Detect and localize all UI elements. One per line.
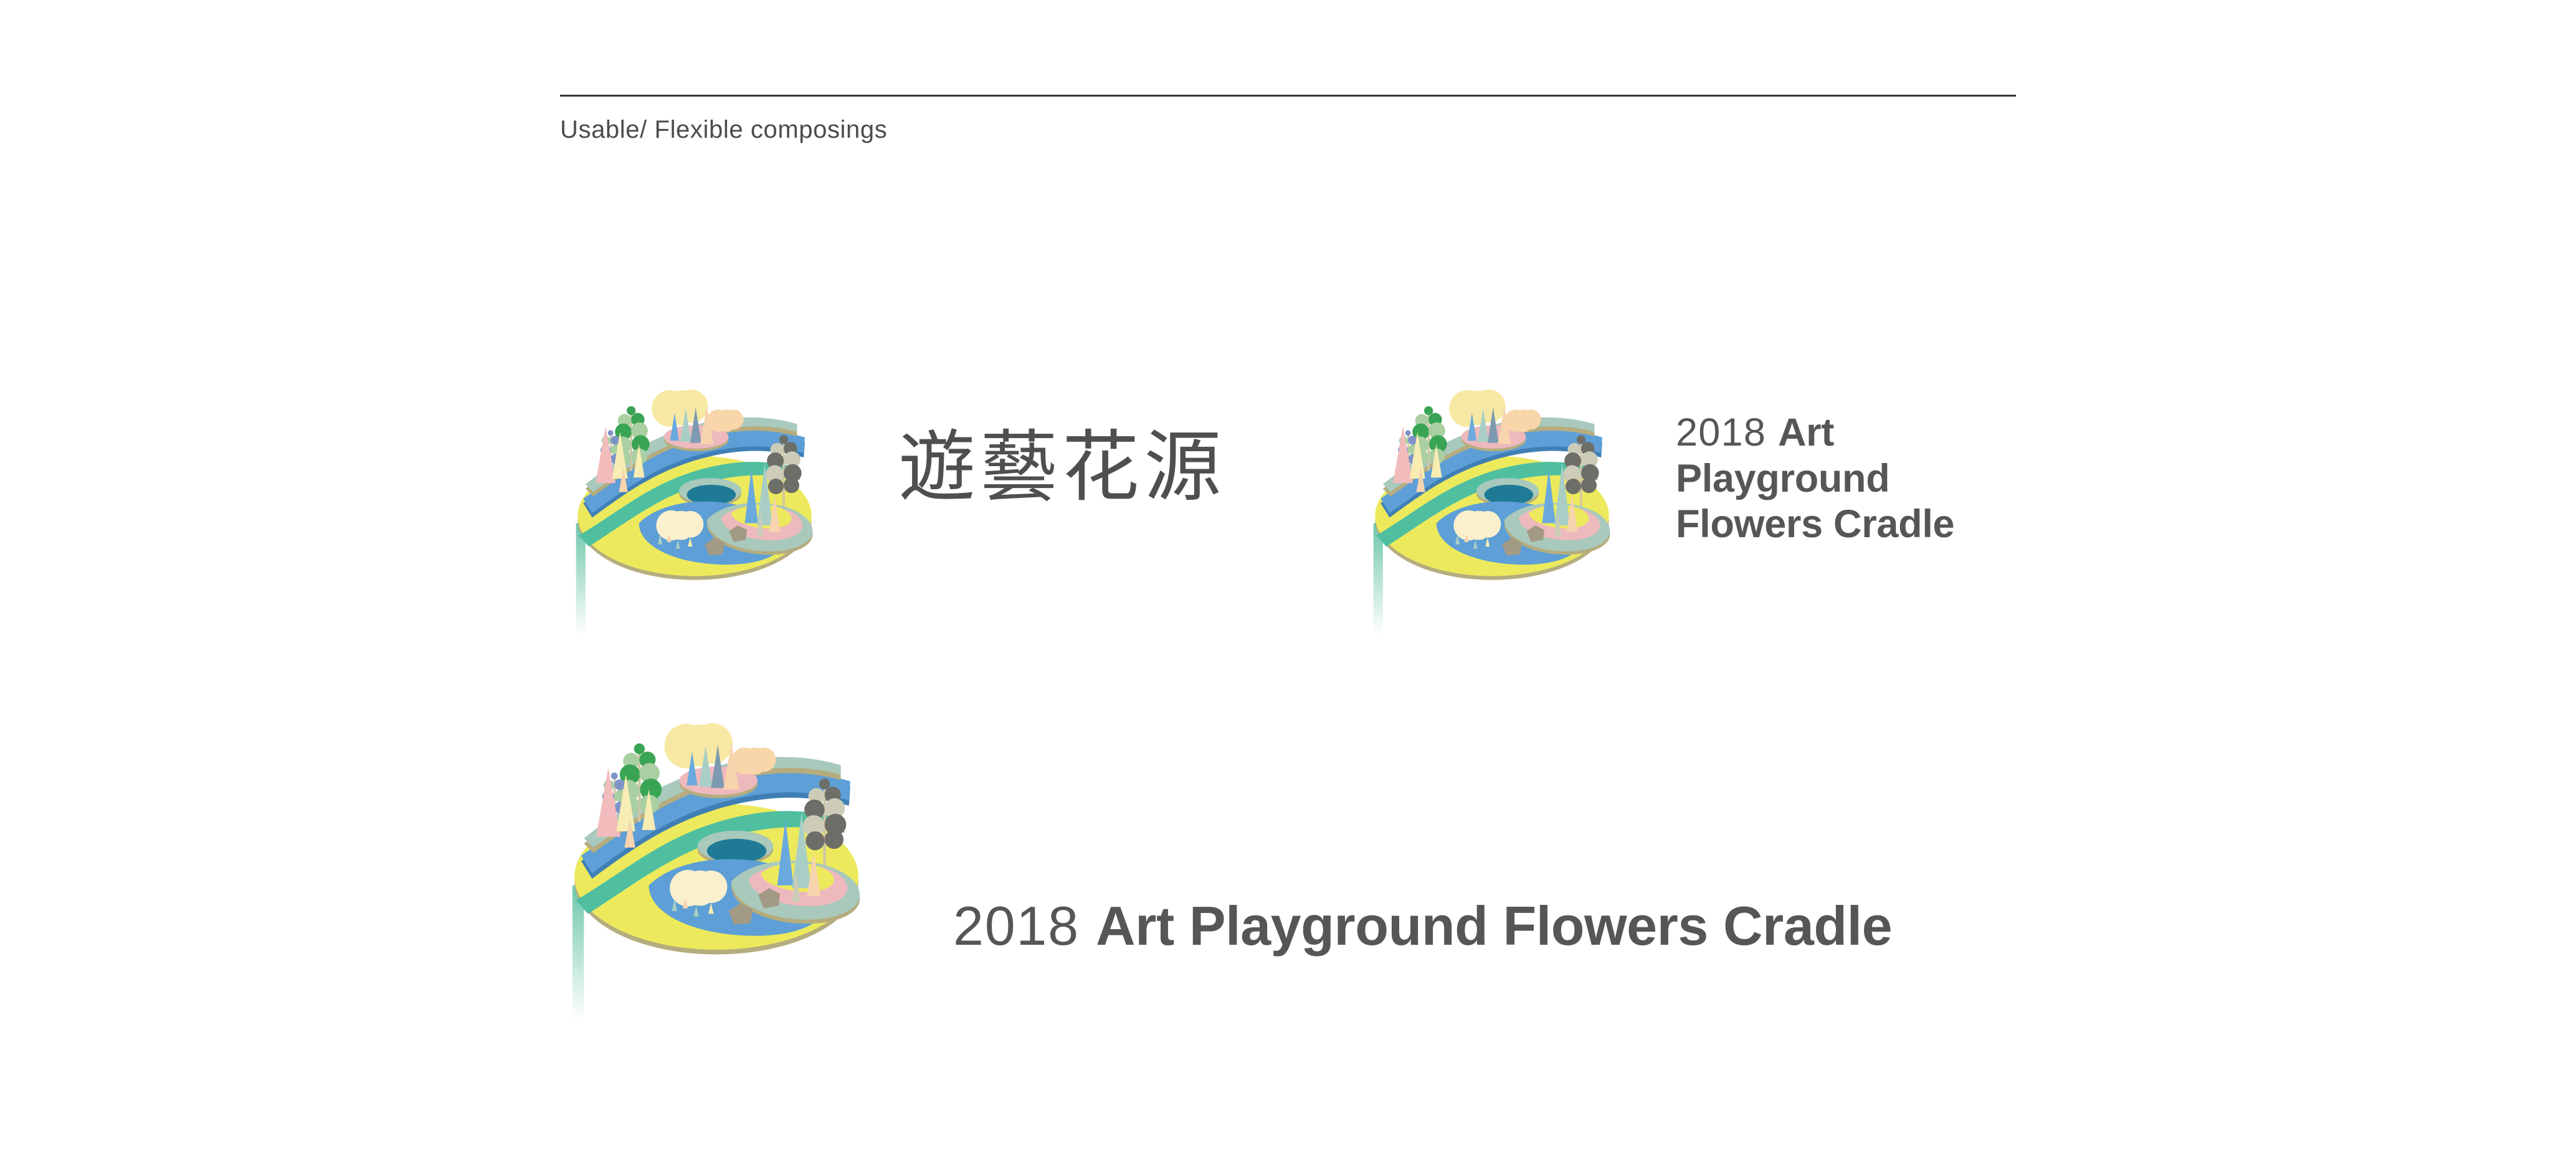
name-word-art: Art xyxy=(1778,411,1834,454)
art-playground-island-logo xyxy=(548,704,885,1022)
wordmark-line-1: 2018 Art xyxy=(1676,410,1954,456)
composition-horizontal-english: 2018 Art Playground Flowers Cradle xyxy=(548,704,2043,1053)
composition-stacked-english: 2018 Art Playground Flowers Cradle xyxy=(1352,374,2037,661)
english-wordmark-stacked: 2018 Art Playground Flowers Cradle xyxy=(1676,410,1954,548)
english-wordmark-inline: 2018 Art Playground Flowers Cradle xyxy=(953,899,1892,953)
year-label: 2018 xyxy=(953,895,1080,957)
composition-horizontal-cjk: 遊藝花源 xyxy=(554,374,1240,661)
slide-canvas: Usable/ Flexible composings xyxy=(0,0,2576,1166)
header-divider-rule xyxy=(560,95,2016,97)
page-title: Usable/ Flexible composings xyxy=(560,116,887,144)
art-playground-island-logo xyxy=(554,374,835,636)
wordmark-line-2: Playground xyxy=(1676,456,1954,502)
year-label: 2018 xyxy=(1676,411,1766,454)
cjk-wordmark: 遊藝花源 xyxy=(898,429,1226,506)
art-playground-island-logo xyxy=(1352,374,1632,636)
wordmark-line-3: Flowers Cradle xyxy=(1676,502,1954,548)
name-full: Art Playground Flowers Cradle xyxy=(1096,895,1892,957)
